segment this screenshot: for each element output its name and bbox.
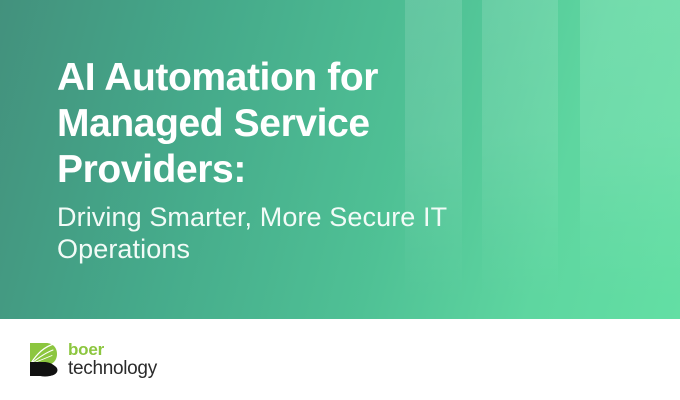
slide-footer: boer technology bbox=[0, 319, 680, 400]
logo-word-technology: technology bbox=[68, 359, 157, 378]
slide-subtitle: Driving Smarter, More Secure IT Operatio… bbox=[57, 201, 657, 265]
title-slide: AI Automation for Managed Service Provid… bbox=[0, 0, 680, 400]
logo-word-boer: boer bbox=[68, 341, 157, 358]
title-text-block: AI Automation for Managed Service Provid… bbox=[57, 55, 657, 265]
hero-background: AI Automation for Managed Service Provid… bbox=[0, 0, 680, 319]
slide-title: AI Automation for Managed Service Provid… bbox=[57, 55, 657, 193]
boer-leaf-b-mark-icon bbox=[29, 342, 61, 377]
brand-logo: boer technology bbox=[29, 341, 157, 378]
logo-wordmark: boer technology bbox=[68, 341, 157, 378]
